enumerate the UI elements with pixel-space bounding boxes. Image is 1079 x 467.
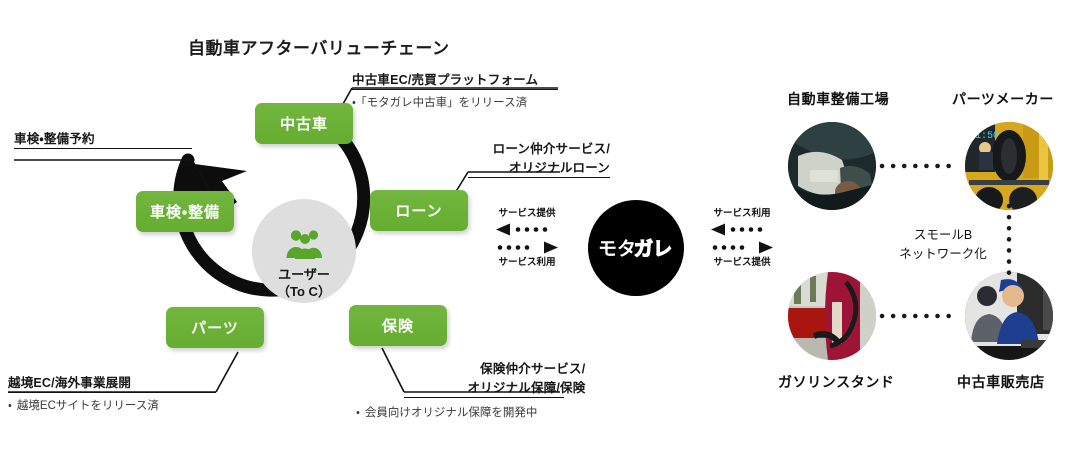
small-b-network-line1: スモールB: [878, 226, 1008, 245]
callout-parts: 越境EC/海外事業展開 ・越境ECサイトをリリース済: [8, 372, 216, 413]
callout-used-car-rule: [352, 89, 558, 90]
user-label: ユーザー （To C）: [252, 266, 356, 300]
callout-used-car: 中古車EC/売買プラットフォーム ・「モタガレ中古車」をリリース済: [352, 69, 558, 110]
callout-insurance: 保険仲介サービス/ オリジナル保障/保険 ・会員向けオリジナル保障を開発中: [404, 358, 585, 418]
cycle-node-inspection[interactable]: 車検・整備: [136, 191, 234, 232]
cycle-node-used-car[interactable]: 中古車: [255, 103, 353, 144]
callout-inspection-rule: [14, 148, 192, 149]
bullet-marker: ・: [8, 400, 12, 412]
user-label-line2: （To C）: [252, 283, 356, 300]
callout-insurance-bullet-text: 会員向けオリジナル保障を開発中: [365, 407, 538, 419]
callout-used-car-title: 中古車EC/売買プラットフォーム: [352, 69, 558, 88]
callout-loan-title-line1: ローン仲介サービス/: [468, 138, 610, 157]
callout-parts-bullet: ・越境ECサイトをリリース済: [8, 397, 216, 413]
callout-parts-rule: [8, 392, 216, 393]
callout-parts-bullet-text: 越境ECサイトをリリース済: [17, 400, 159, 412]
callout-insurance-rule: [404, 397, 564, 398]
logo-text-solid: モタ: [598, 238, 636, 260]
motagare-logo[interactable]: モタ ガレ: [588, 200, 684, 296]
exchange-left-bottom-label: サービス利用: [488, 256, 566, 269]
callout-inspection: 車検・整備予約: [14, 128, 192, 149]
callout-loan: ローン仲介サービス/ オリジナルローン: [468, 138, 610, 178]
arrow-right-dotted-icon: [496, 241, 558, 254]
cycle-node-insurance[interactable]: 保険: [349, 305, 447, 346]
cycle-node-loan[interactable]: ローン: [370, 190, 468, 231]
small-b-network-label: スモールB ネットワーク化: [878, 226, 1008, 264]
callout-parts-title: 越境EC/海外事業展開: [8, 372, 216, 391]
callout-loan-rule: [468, 177, 610, 178]
arrow-right-dotted-icon: [711, 241, 773, 254]
slide-canvas: 自動車アフターバリューチェーン ユーザー （To C） 中古車 ローン 保険 パ…: [0, 0, 1079, 467]
callout-insurance-title-line1: 保険仲介サービス/: [404, 358, 585, 377]
exchange-left-top-arrow: [488, 220, 566, 238]
exchange-arrows-left: サービス提供 サービス利用: [488, 207, 566, 269]
callout-inspection-title: 車検・整備予約: [14, 128, 192, 147]
arrow-left-dotted-icon: [496, 223, 558, 236]
callout-used-car-bullet-text: 「モタガレ中古車」をリリース済: [361, 97, 527, 109]
logo-text-outline: ガレ: [634, 238, 672, 260]
arrow-left-dotted-icon: [711, 223, 773, 236]
callout-loan-title-line2: オリジナルローン: [468, 157, 610, 176]
users-icon: [285, 228, 325, 260]
callout-insurance-bullet: ・会員向けオリジナル保障を開発中: [356, 404, 537, 420]
cycle-node-parts[interactable]: パーツ: [166, 307, 264, 348]
exchange-left-top-label: サービス提供: [488, 207, 566, 220]
callout-used-car-bullet: ・「モタガレ中古車」をリリース済: [352, 94, 558, 110]
bullet-marker: ・: [356, 407, 360, 419]
motagare-wordmark-icon: モタ ガレ: [598, 234, 674, 262]
callout-insurance-title-line2: オリジナル保障/保険: [404, 377, 585, 396]
small-b-network-line2: ネットワーク化: [878, 245, 1008, 264]
bullet-marker: ・: [352, 97, 356, 109]
user-label-line1: ユーザー: [252, 266, 356, 283]
exchange-left-bottom-arrow: [488, 238, 566, 256]
